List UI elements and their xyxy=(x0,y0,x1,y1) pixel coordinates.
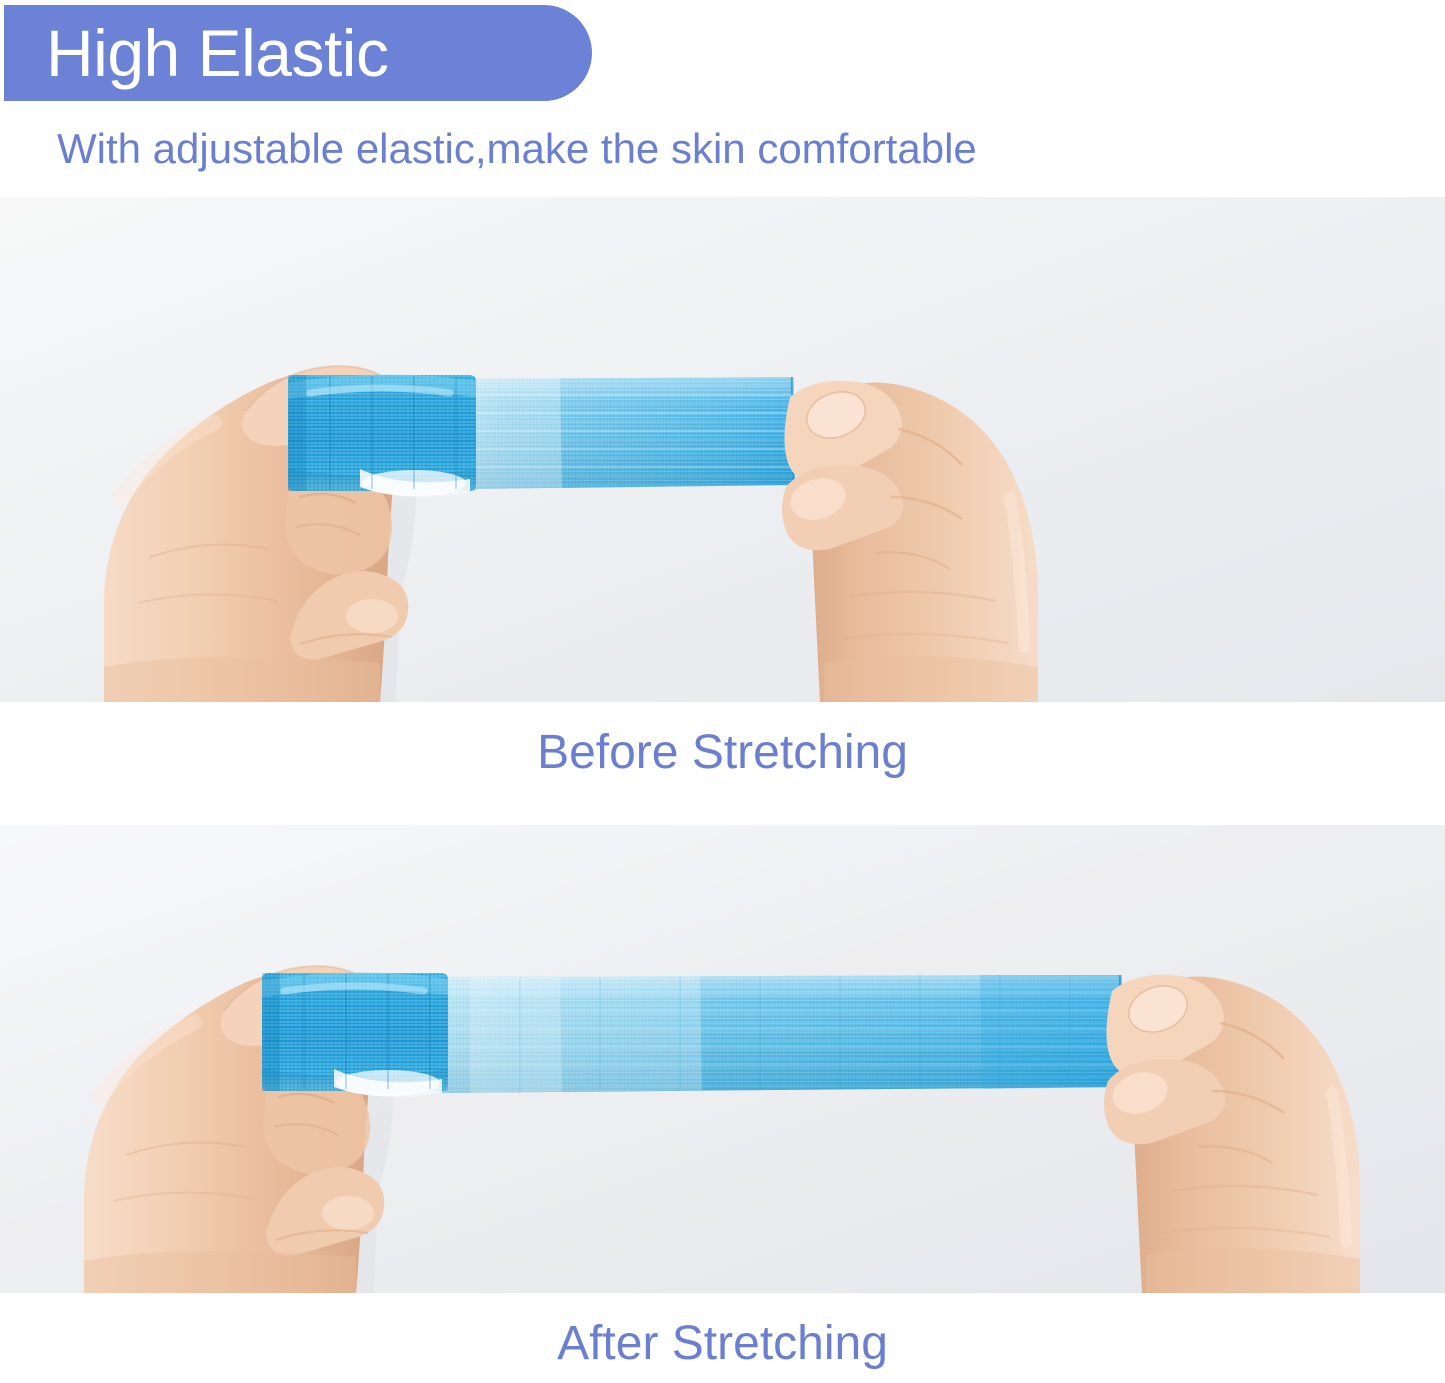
after-stretching-panel: After Stretching xyxy=(0,825,1445,1383)
caption-after-stretching: After Stretching xyxy=(0,1318,1445,1370)
after-stretching-photo xyxy=(0,825,1445,1293)
high-elastic-badge: High Elastic xyxy=(4,5,592,101)
badge-label: High Elastic xyxy=(4,20,388,86)
bandage-tape-segment xyxy=(470,377,794,489)
bandage-roll xyxy=(262,972,448,1096)
infographic-page: High Elastic With adjustable elastic,mak… xyxy=(0,0,1445,1383)
bandage-roll xyxy=(288,374,476,496)
subtitle-text: With adjustable elastic,make the skin co… xyxy=(57,125,977,173)
caption-before-stretching: Before Stretching xyxy=(0,727,1445,779)
bandage-tape-stretched xyxy=(440,975,1124,1093)
before-stretching-panel: Before Stretching xyxy=(0,197,1445,815)
before-stretching-photo xyxy=(0,197,1445,702)
